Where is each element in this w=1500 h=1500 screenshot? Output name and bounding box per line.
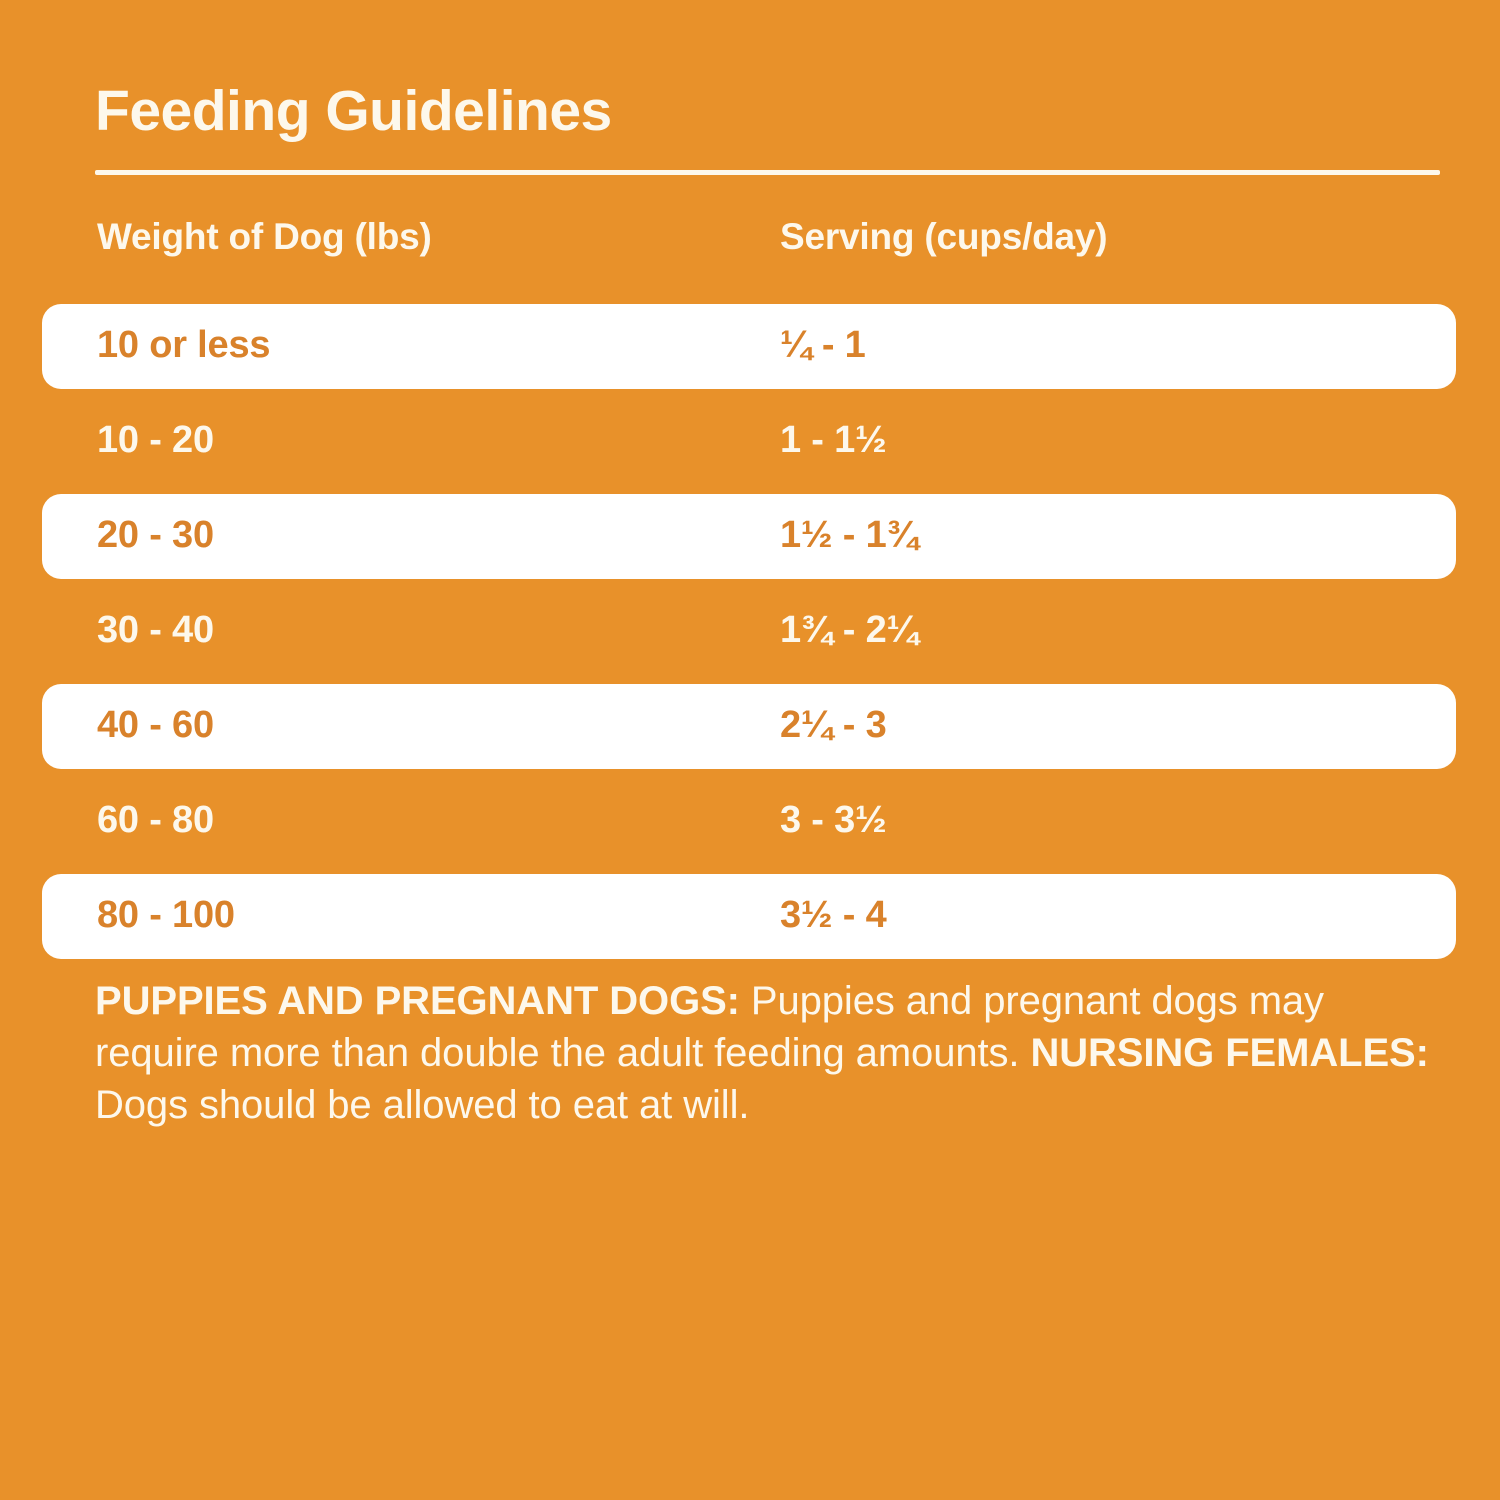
note-label-puppies: PUPPIES AND PREGNANT DOGS: (95, 979, 740, 1023)
table-row: 20 - 30 1½ - 1¾ (0, 490, 1500, 585)
table-row: 10 or less ¼ - 1 (0, 300, 1500, 395)
table-row: 10 - 20 1 - 1½ (0, 395, 1500, 490)
cell-serving: ¼ - 1 (780, 323, 866, 367)
column-header-serving: Serving (cups/day) (780, 216, 1107, 258)
row-highlight-pill (42, 494, 1456, 579)
cell-serving: 2¼ - 3 (780, 703, 887, 747)
cell-serving: 3½ - 4 (780, 893, 887, 937)
cell-weight: 10 - 20 (97, 418, 214, 462)
feeding-table: Weight of Dog (lbs) Serving (cups/day) 1… (0, 212, 1500, 965)
row-highlight-pill (42, 684, 1456, 769)
cell-weight: 80 - 100 (97, 893, 235, 937)
cell-serving: 1 - 1½ (780, 418, 887, 462)
cell-weight: 40 - 60 (97, 703, 214, 747)
cell-weight: 10 or less (97, 323, 270, 367)
title-divider (95, 170, 1440, 175)
cell-serving: 1¾ - 2¼ (780, 608, 918, 652)
cell-weight: 60 - 80 (97, 798, 214, 842)
row-highlight-pill (42, 874, 1456, 959)
note-label-nursing: NURSING FEMALES: (1030, 1031, 1428, 1075)
feeding-guidelines-panel: Feeding Guidelines Weight of Dog (lbs) S… (0, 0, 1500, 1500)
table-row: 60 - 80 3 - 3½ (0, 775, 1500, 870)
cell-serving: 3 - 3½ (780, 798, 887, 842)
cell-serving: 1½ - 1¾ (780, 513, 918, 557)
note-text-nursing: Dogs should be allowed to eat at will. (95, 1083, 749, 1127)
table-row: 80 - 100 3½ - 4 (0, 870, 1500, 965)
page-title: Feeding Guidelines (95, 82, 612, 142)
table-body: 10 or less ¼ - 1 10 - 20 1 - 1½ 20 - 30 … (0, 300, 1500, 965)
cell-weight: 30 - 40 (97, 608, 214, 652)
cell-weight: 20 - 30 (97, 513, 214, 557)
table-row: 30 - 40 1¾ - 2¼ (0, 585, 1500, 680)
feeding-note: PUPPIES AND PREGNANT DOGS: Puppies and p… (95, 975, 1440, 1131)
column-header-weight: Weight of Dog (lbs) (97, 216, 432, 258)
table-row: 40 - 60 2¼ - 3 (0, 680, 1500, 775)
table-header-row: Weight of Dog (lbs) Serving (cups/day) (0, 212, 1500, 300)
